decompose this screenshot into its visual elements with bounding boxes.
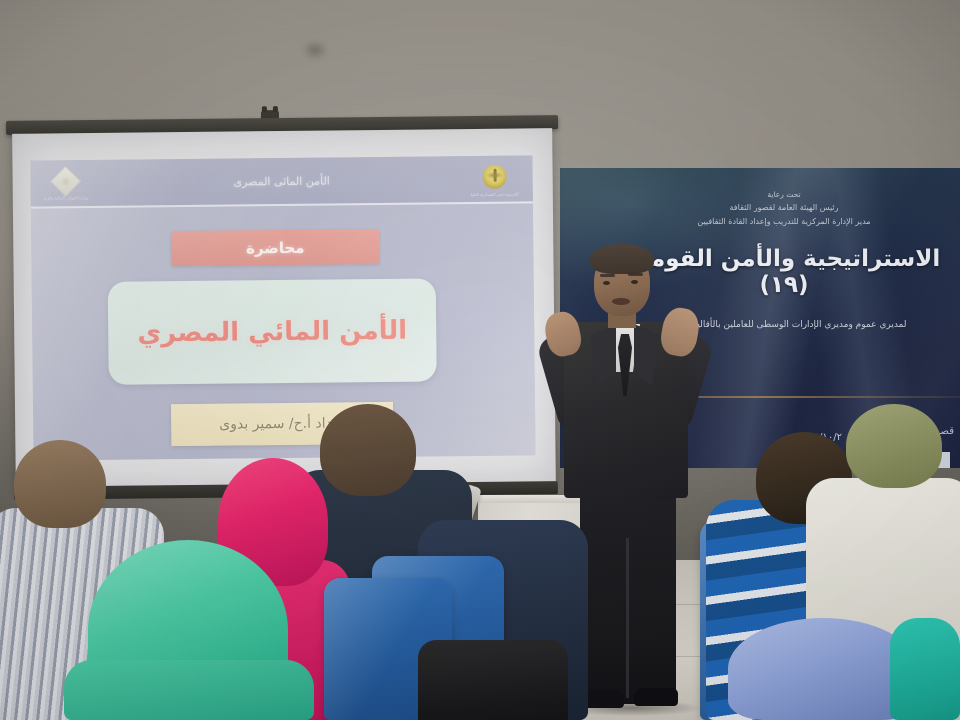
lecture-hall-photo: تحت رعاية رئيس الهيئة العامة لقصور الثقا… [0, 0, 960, 720]
presenter-hair [590, 244, 654, 274]
banner-patron-line-2: مدير الإدارة المركزية للتدريب وإعداد الق… [614, 217, 954, 228]
banner-patron-line-1: رئيس الهيئة العامة لقصور الثقافة [614, 203, 954, 214]
wall-smudge [302, 40, 328, 60]
projected-slide: وزارة الموارد المائية والري الأمن المائى… [30, 155, 535, 460]
banner-patron-label: تحت رعاية [614, 190, 954, 199]
academy-eagle-icon: أكاديمية ناصر العسكرية العليا [466, 158, 522, 203]
ministry-logo-icon: وزارة الموارد المائية والري [40, 164, 90, 207]
slide-main-title: الأمن المائي المصري [137, 315, 407, 348]
logo-right-caption: أكاديمية ناصر العسكرية العليا [471, 192, 519, 198]
screen-surface: وزارة الموارد المائية والري الأمن المائى… [12, 128, 556, 489]
audience-man-striped-shirt-head [14, 440, 106, 528]
logo-left-caption: وزارة الموارد المائية والري [44, 195, 88, 200]
audience-woman-teal-garment [890, 618, 960, 720]
slide-title-box: الأمن المائي المصري [108, 278, 437, 384]
audience-man-dark-jacket-head [320, 404, 416, 496]
audience-woman-mint-hijab-body [64, 660, 314, 720]
presenter-shoe-right [634, 688, 678, 706]
slide-lecture-chip: محاضرة [171, 229, 379, 266]
projection-screen: وزارة الموارد المائية والري الأمن المائى… [6, 115, 562, 506]
slide-header: وزارة الموارد المائية والري الأمن المائى… [30, 155, 532, 208]
slide-lecture-chip-label: محاضرة [246, 238, 305, 257]
audience-man-olive-cap-head [846, 404, 942, 488]
slide-header-title: الأمن المائى المصرى [233, 174, 329, 188]
chair-foreground-dark [418, 640, 568, 720]
